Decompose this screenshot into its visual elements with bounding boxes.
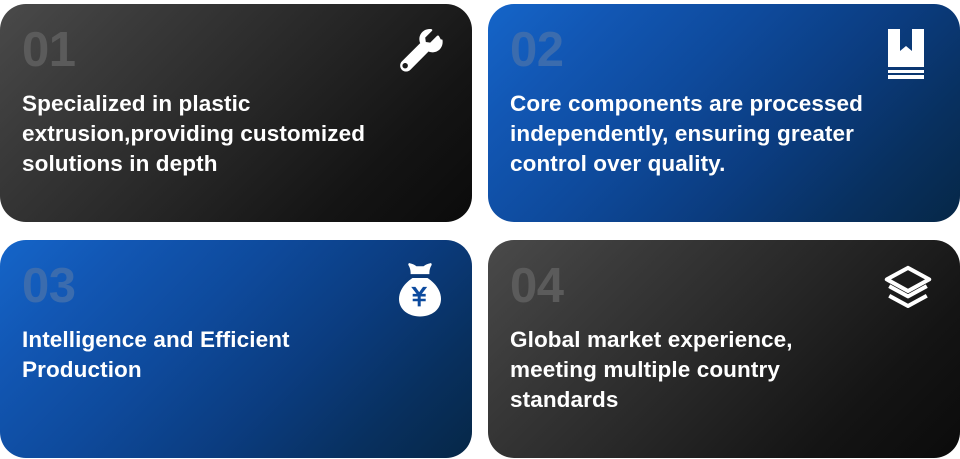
card-number: 01 <box>22 26 446 75</box>
money-bag-yen-icon <box>394 264 446 316</box>
feature-cards-grid: 01 Specialized in plastic extrusion,prov… <box>0 0 960 459</box>
layers-stack-icon <box>882 264 934 316</box>
card-description: Core components are processed independen… <box>510 89 934 179</box>
wrench-icon <box>394 28 446 80</box>
card-description: Specialized in plastic extrusion,providi… <box>22 89 446 179</box>
book-bookmark-icon <box>882 28 934 80</box>
card-description: Intelligence and Efficient Production <box>22 325 446 385</box>
feature-card-01[interactable]: 01 Specialized in plastic extrusion,prov… <box>0 4 472 222</box>
card-number: 03 <box>22 262 446 311</box>
card-number: 04 <box>510 262 934 311</box>
card-description: Global market experience, meeting multip… <box>510 325 934 415</box>
feature-card-03[interactable]: 03 Intelligence and Efficient Production <box>0 240 472 458</box>
card-number: 02 <box>510 26 934 75</box>
feature-card-04[interactable]: 04 Global market experience, meeting mul… <box>488 240 960 458</box>
feature-card-02[interactable]: 02 Core components are processed indepen… <box>488 4 960 222</box>
